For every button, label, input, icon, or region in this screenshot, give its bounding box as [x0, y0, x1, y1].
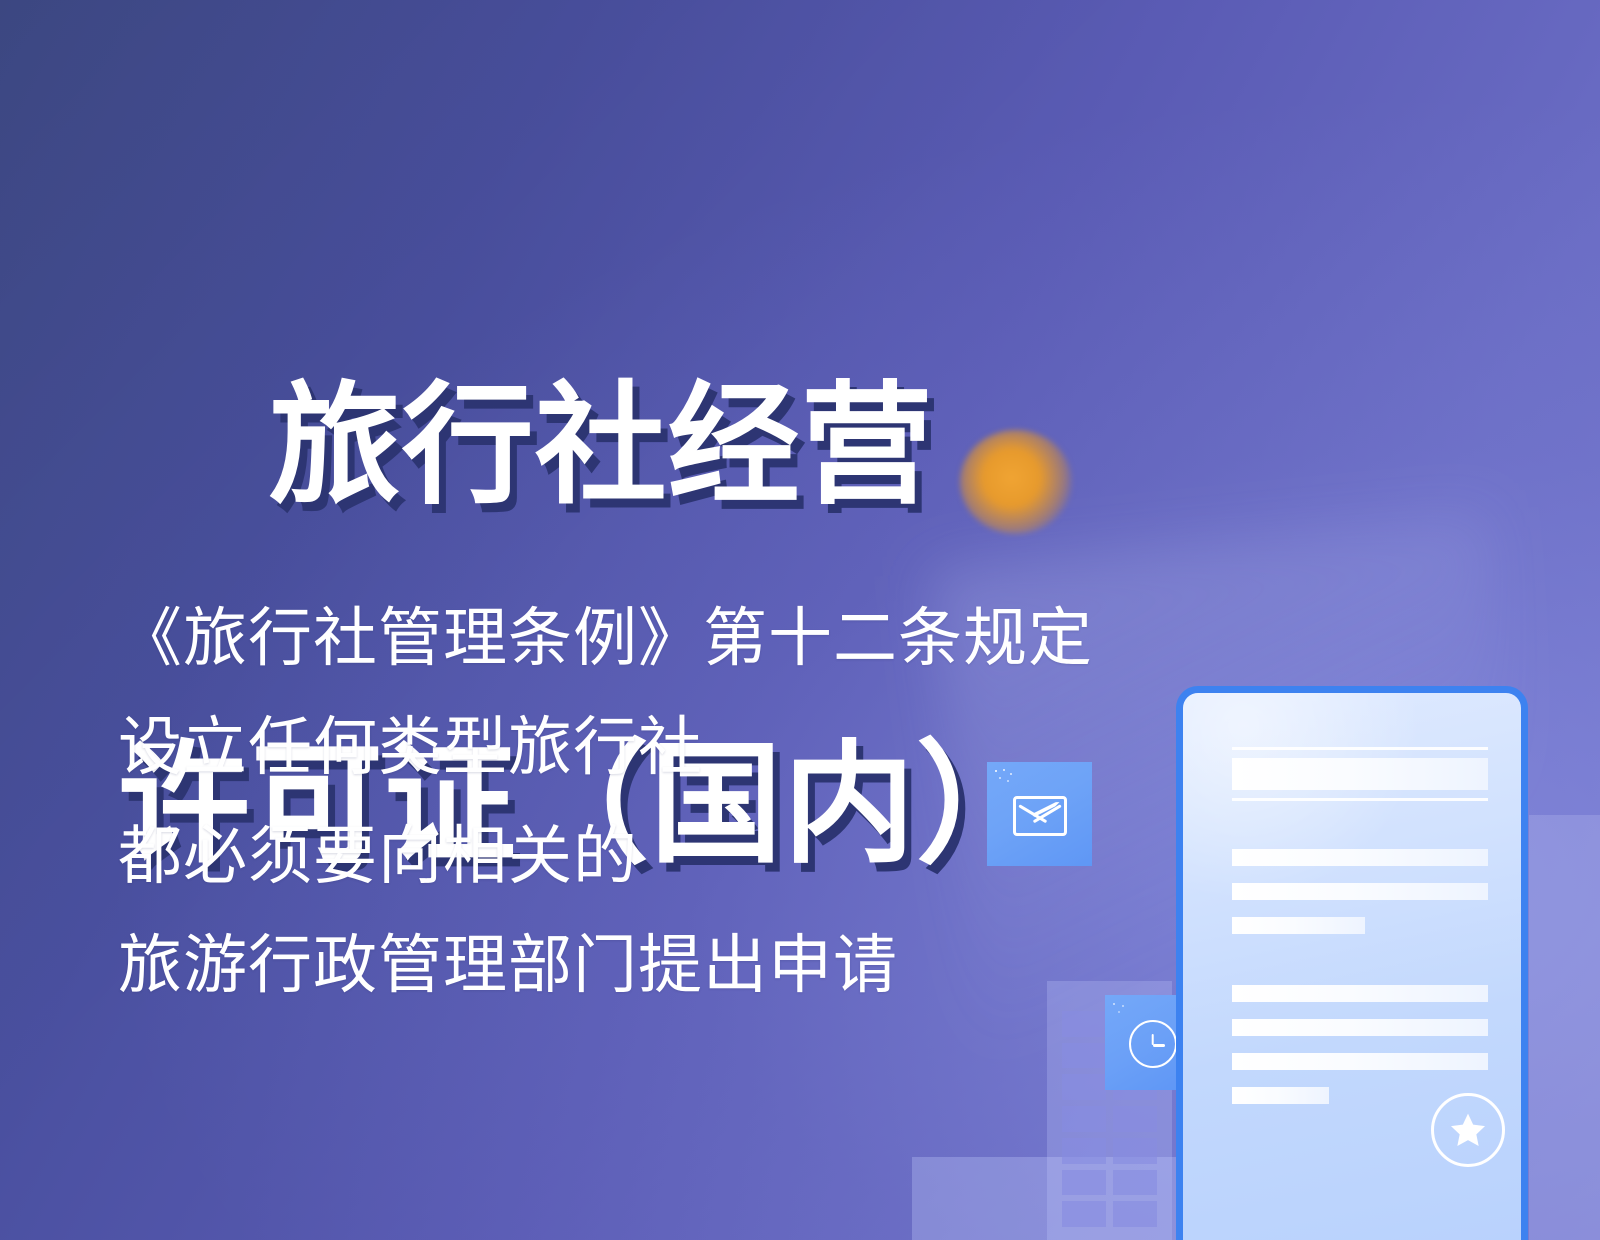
right-edge-panel — [1529, 815, 1600, 1240]
document-line — [1232, 1019, 1488, 1036]
body-line-2: 设立任何类型旅行社 — [118, 715, 1093, 779]
document-spacer — [1232, 809, 1488, 849]
body-copy: 《旅行社管理条例》第十二条规定 设立任何类型旅行社 都必须要向相关的 旅游行政管… — [118, 606, 1093, 997]
body-line-4: 旅游行政管理部门提出申请 — [118, 933, 1093, 997]
body-line-3: 都必须要向相关的 — [118, 824, 1093, 888]
body-line-1: 《旅行社管理条例》第十二条规定 — [118, 606, 1093, 670]
document-line — [1232, 917, 1365, 934]
page-title-line-1: 旅行社经营 — [269, 372, 934, 519]
star-seal-icon — [1431, 1093, 1505, 1167]
document-line — [1232, 883, 1488, 900]
document-hairline — [1232, 747, 1488, 750]
document-title-bar — [1232, 758, 1488, 790]
document-line — [1232, 1053, 1488, 1070]
document-spacer — [1232, 951, 1488, 985]
document-line — [1232, 1087, 1329, 1104]
document-card — [1176, 686, 1528, 1240]
document-line — [1232, 849, 1488, 866]
document-text-lines — [1232, 747, 1488, 1121]
poster-canvas: 旅行社经营 许可证（国内） 《旅行社管理条例》第十二条规定 设立任何类型旅行社 … — [0, 0, 1600, 1240]
document-hairline — [1232, 798, 1488, 801]
document-line — [1232, 985, 1488, 1002]
